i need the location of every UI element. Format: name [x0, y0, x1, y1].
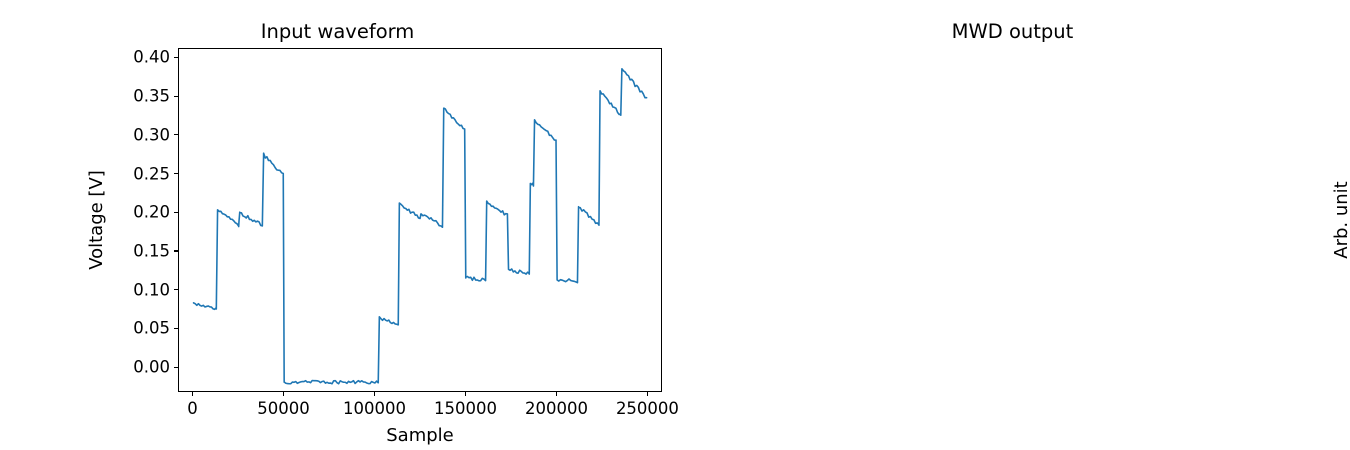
- y-tick-label: 0.05: [120, 319, 170, 338]
- y-tick-label: 0.40: [120, 48, 170, 67]
- x-tick-label: 250000: [616, 399, 679, 418]
- plot-area-input-waveform: [178, 48, 662, 392]
- panel-title-input-waveform: Input waveform: [0, 22, 675, 42]
- x-tick-mark: [192, 392, 193, 396]
- y-tick-label: 0.25: [120, 164, 170, 183]
- y-tick-mark: [174, 250, 178, 251]
- y-axis-label-mwd: Arb. unit: [1331, 181, 1350, 258]
- x-tick-label: 0: [187, 399, 198, 418]
- y-tick-label: 0.00: [120, 358, 170, 377]
- y-tick-mark: [174, 367, 178, 368]
- y-tick-label: 0.30: [120, 125, 170, 144]
- x-tick-mark: [374, 392, 375, 396]
- plot-line-container-input: [179, 49, 661, 391]
- y-tick-mark: [174, 96, 178, 97]
- x-tick-label: 50000: [257, 399, 310, 418]
- panel-mwd-output: MWD output −0.2−0.10.00.1 05000010000015…: [675, 0, 1350, 450]
- y-tick-label: 0.20: [120, 203, 170, 222]
- x-axis-label-input: Sample: [386, 425, 454, 446]
- x-tick-mark: [283, 392, 284, 396]
- y-tick-label: 0.10: [120, 280, 170, 299]
- x-tick-label: 200000: [525, 399, 588, 418]
- x-tick-mark: [465, 392, 466, 396]
- y-tick-mark: [174, 134, 178, 135]
- x-tick-mark: [556, 392, 557, 396]
- y-tick-mark: [174, 212, 178, 213]
- y-tick-label: 0.35: [120, 87, 170, 106]
- y-tick-mark: [174, 328, 178, 329]
- figure-canvas: Input waveform 0.000.050.100.150.200.250…: [0, 0, 1350, 450]
- input-waveform-line: [179, 49, 661, 391]
- y-axis-label-input: Voltage [V]: [86, 170, 107, 270]
- y-tick-mark: [174, 173, 178, 174]
- y-tick-label: 0.15: [120, 241, 170, 260]
- x-tick-mark: [647, 392, 648, 396]
- x-tick-label: 150000: [434, 399, 497, 418]
- panel-input-waveform: Input waveform 0.000.050.100.150.200.250…: [0, 0, 675, 450]
- y-tick-mark: [174, 57, 178, 58]
- y-tick-mark: [174, 289, 178, 290]
- x-tick-label: 100000: [343, 399, 406, 418]
- panel-title-mwd-output: MWD output: [675, 22, 1350, 42]
